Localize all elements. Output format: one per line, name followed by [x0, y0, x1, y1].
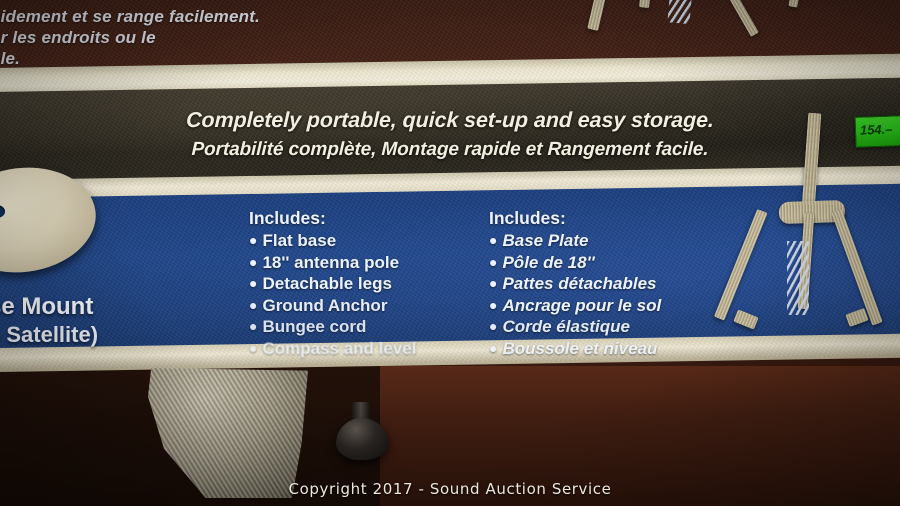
list-item-label: 18'' antenna pole [262, 253, 399, 272]
list-item: ●Bungee cord [249, 316, 416, 338]
list-item-label: Ground Anchor [262, 296, 387, 315]
list-item: ●18'' antenna pole [249, 252, 416, 274]
headline-french: Portabilité complète, Montage rapide et … [0, 139, 900, 161]
copyright-watermark: Copyright 2017 - Sound Auction Service [0, 480, 900, 498]
list-item: ●Boussole et niveau [489, 338, 661, 360]
list-item: ●Detachable legs [249, 273, 416, 295]
list-item-label: Boussole et niveau [502, 339, 657, 358]
list-item-label: Detachable legs [262, 274, 391, 293]
list-item: ●Ground Anchor [249, 295, 416, 317]
auction-photo-screenshot: pidement et se range facilement. ur les … [0, 0, 900, 506]
includes-items-french: ●Base Plate ●Pôle de 18'' ●Pattes détach… [489, 230, 661, 359]
bullet-icon: ● [249, 275, 257, 291]
bullet-icon: ● [249, 297, 257, 313]
includes-list-french: Includes: ●Base Plate ●Pôle de 18'' ●Pat… [489, 207, 661, 359]
banner-headline: Completely portable, quick set-up and ea… [0, 108, 900, 161]
list-item-label: Base Plate [502, 231, 588, 250]
product-title-line-2: e Satellite) [0, 322, 98, 348]
bullet-icon: ● [249, 318, 257, 334]
list-item-label: Corde élastique [502, 317, 630, 336]
list-item-label: Compass and level [262, 339, 416, 358]
list-item-label: Bungee cord [262, 317, 366, 336]
list-item: ●Base Plate [489, 230, 661, 252]
bullet-icon: ● [489, 297, 497, 313]
bullet-icon: ● [489, 275, 497, 291]
list-item: ●Pôle de 18'' [489, 252, 661, 274]
box-top-french-text: pidement et se range facilement. ur les … [0, 6, 260, 69]
bullet-icon: ● [489, 254, 497, 270]
list-item-label: Ancrage pour le sol [502, 296, 661, 315]
includes-list-english: Includes: ●Flat base ●18'' antenna pole … [249, 207, 416, 359]
top-text-line-1: pidement et se range facilement. [0, 6, 260, 27]
bullet-icon: ● [489, 340, 497, 356]
dark-knob-object-icon [336, 418, 388, 460]
product-title-line-1: se Mount [0, 294, 98, 320]
product-title-cropped: se Mount e Satellite) [0, 294, 98, 348]
box-bottom-blue-panel [0, 184, 900, 350]
includes-heading-english: Includes: [249, 207, 416, 229]
includes-heading-french: Includes: [489, 207, 661, 229]
bullet-icon: ● [249, 340, 257, 356]
list-item: ●Compass and level [249, 338, 416, 360]
list-item-label: Pattes détachables [502, 274, 656, 293]
bullet-icon: ● [489, 232, 497, 248]
price-tag: 154.– [854, 115, 900, 148]
includes-items-english: ●Flat base ●18'' antenna pole ●Detachabl… [249, 230, 416, 359]
list-item-label: Flat base [262, 231, 336, 250]
bullet-icon: ● [249, 232, 257, 248]
list-item-label: Pôle de 18'' [502, 253, 594, 272]
list-item: ●Ancrage pour le sol [489, 295, 661, 317]
headline-english: Completely portable, quick set-up and ea… [0, 108, 900, 133]
price-tag-value: 154.– [856, 116, 900, 138]
bullet-icon: ● [489, 318, 497, 334]
top-text-line-2: ur les endroits ou le [0, 27, 260, 48]
list-item: ●Flat base [249, 230, 416, 252]
list-item: ●Corde élastique [489, 316, 661, 338]
bullet-icon: ● [249, 254, 257, 270]
top-text-line-3: ble. [0, 48, 260, 69]
list-item: ●Pattes détachables [489, 273, 661, 295]
